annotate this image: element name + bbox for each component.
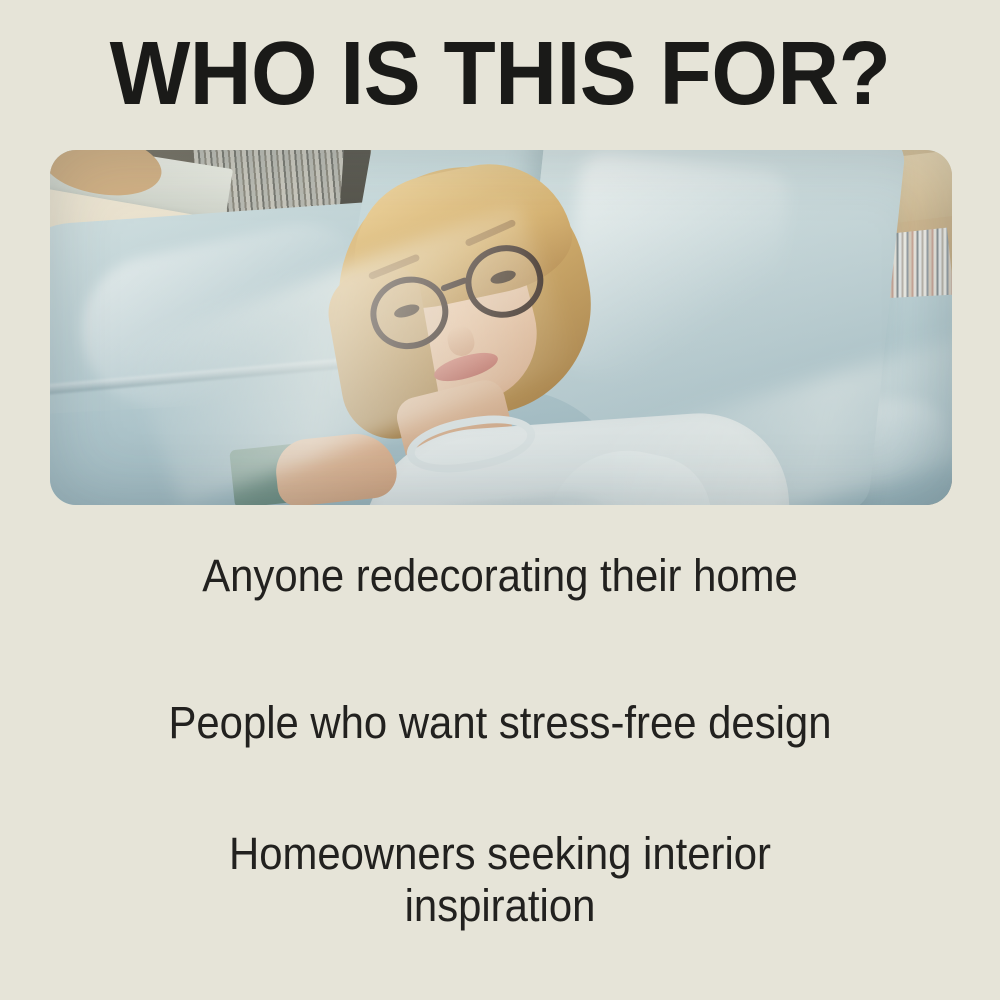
slide-canvas: WHO IS THIS FOR? <box>0 0 1000 1000</box>
vignette-overlay <box>50 150 952 505</box>
photo-scene <box>50 150 952 505</box>
audience-line-2: People who want stress-free design <box>35 697 965 749</box>
hero-photo <box>50 150 952 505</box>
audience-line-1: Anyone redecorating their home <box>35 550 965 602</box>
audience-line-3: Homeowners seeking interior inspiration <box>35 828 965 932</box>
page-title: WHO IS THIS FOR? <box>25 26 975 122</box>
audience-line-3-text: Homeowners seeking interior inspiration <box>175 828 826 932</box>
